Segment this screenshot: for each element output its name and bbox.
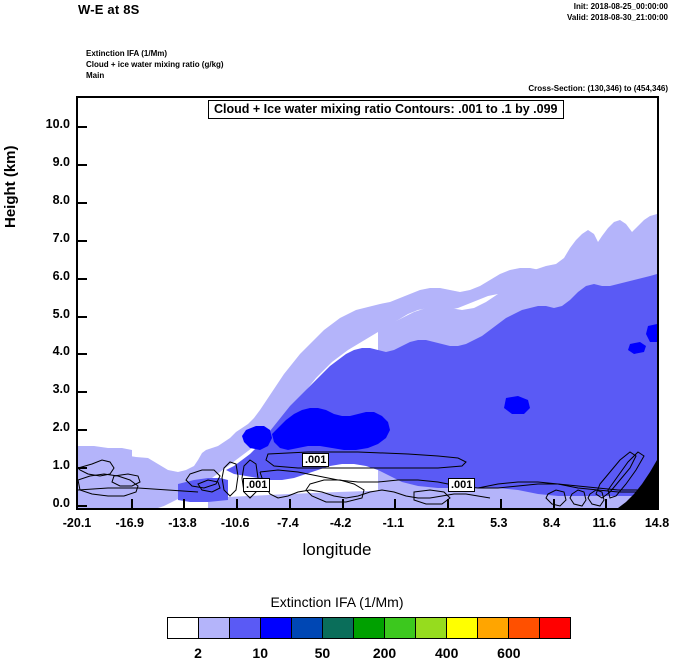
y-tick-4.0: 4.0 [8,344,70,358]
colorbar-tick-2: 2 [173,645,223,661]
contour-fill-svg [78,98,657,508]
subtitle-line-extinction: Extinction IFA (1/Mm) [86,48,224,59]
valid-time: Valid: 2018-08-30_21:00:00 [567,12,668,23]
x-tickmark [236,499,238,508]
y-tick-8.0: 8.0 [8,193,70,207]
colorbar-tick-600: 600 [484,645,534,661]
x-tickmark [605,499,607,508]
x-axis-label: longitude [0,540,674,560]
y-tickmark [78,202,87,204]
y-tick-6.0: 6.0 [8,269,70,283]
y-tickmark [78,429,87,431]
x-tick-8.4: 8.4 [522,516,582,530]
y-tick-7.0: 7.0 [8,231,70,245]
x-tick-neg7.4: -7.4 [258,516,318,530]
subtitle-line-domain: Main [86,70,224,81]
x-tick-neg4.2: -4.2 [311,516,371,530]
colorbar-cell-5[interactable] [323,618,354,638]
x-tickmark [183,499,185,508]
x-tick-neg13.8: -13.8 [152,516,212,530]
colorbar[interactable] [167,617,571,639]
x-tickmark [447,499,449,508]
contour-label-001-c: .001 [448,478,475,492]
y-tick-5.0: 5.0 [8,307,70,321]
y-tickmark [78,505,87,507]
y-tickmark [78,467,87,469]
x-tick-11.6: 11.6 [574,516,634,530]
x-tick-2.1: 2.1 [416,516,476,530]
colorbar-cell-6[interactable] [354,618,385,638]
y-tickmark [78,316,87,318]
colorbar-tick-200: 200 [360,645,410,661]
contour-label-001-a: .001 [302,453,329,467]
y-tickmark [78,240,87,242]
cross-section-coords: Cross-Section: (130,346) to (454,346) [528,84,668,93]
page-title: W-E at 8S [78,2,140,17]
colorbar-tick-400: 400 [422,645,472,661]
colorbar-cell-10[interactable] [478,618,509,638]
x-tick-neg16.9: -16.9 [100,516,160,530]
x-tick-neg1.1: -1.1 [363,516,423,530]
y-tick-3.0: 3.0 [8,382,70,396]
y-tick-9.0: 9.0 [8,155,70,169]
y-tickmark [78,353,87,355]
x-tick-5.3: 5.3 [469,516,529,530]
y-tickmark [78,164,87,166]
colorbar-cell-7[interactable] [385,618,416,638]
colorbar-cell-4[interactable] [292,618,323,638]
colorbar-cell-2[interactable] [230,618,261,638]
x-tickmark [500,499,502,508]
x-tickmark [289,499,291,508]
colorbar-cell-0[interactable] [168,618,199,638]
x-tick-neg10.6: -10.6 [205,516,265,530]
y-tickmark [78,391,87,393]
contour-label-001-b: .001 [243,478,270,492]
colorbar-cell-12[interactable] [540,618,570,638]
y-tick-2.0: 2.0 [8,420,70,434]
colorbar-tick-10: 10 [235,645,285,661]
subtitle-line-mixing-ratio: Cloud + ice water mixing ratio (g/kg) [86,59,224,70]
valid-time-block: Init: 2018-08-25_00:00:00 Valid: 2018-08… [567,1,668,23]
y-tickmark [78,126,87,128]
x-tickmark [131,499,133,508]
x-tick-14.8: 14.8 [627,516,674,530]
x-tickmark [394,499,396,508]
x-tickmark [342,499,344,508]
init-time: Init: 2018-08-25_00:00:00 [567,1,668,12]
x-tick-neg20.1: -20.1 [47,516,107,530]
x-tickmark [553,499,555,508]
y-tick-1.0: 1.0 [8,458,70,472]
colorbar-cell-8[interactable] [416,618,447,638]
y-tick-10.0: 10.0 [8,117,70,131]
y-tick-0.0: 0.0 [8,496,70,510]
contour-title-box: Cloud + Ice water mixing ratio Contours:… [208,100,564,119]
colorbar-cell-1[interactable] [199,618,230,638]
cross-section-plot: .001 .001 .001 Cloud + Ice water mixing … [76,96,659,510]
colorbar-tick-50: 50 [297,645,347,661]
y-tickmark [78,278,87,280]
colorbar-title: Extinction IFA (1/Mm) [0,594,674,610]
colorbar-cell-3[interactable] [261,618,292,638]
colorbar-cell-9[interactable] [447,618,478,638]
colorbar-cell-11[interactable] [509,618,540,638]
variable-subtitle: Extinction IFA (1/Mm) Cloud + ice water … [86,48,224,81]
